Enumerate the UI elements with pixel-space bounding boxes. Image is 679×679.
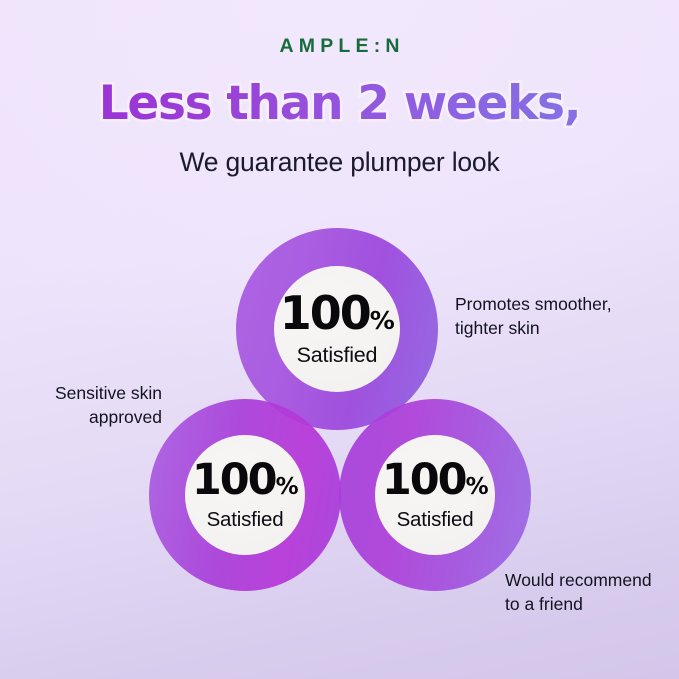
stat-circle-top-inner: 100% Satisfied (274, 266, 400, 392)
percent-symbol-bottom-right: % (466, 476, 489, 499)
stat-label-top: Satisfied (297, 343, 378, 368)
headline: Less than 2 weeks, Less than 2 weeks, (99, 76, 581, 132)
stat-circle-bottom-right: 100% Satisfied (339, 399, 531, 591)
stat-label-bottom-right: Satisfied (397, 508, 474, 532)
stat-number-bottom-left: 100 (192, 459, 276, 502)
stat-number-bottom-right: 100 (382, 459, 466, 502)
stat-label-bottom-left: Satisfied (207, 508, 284, 532)
annotation-would-recommend: Would recommend to a friend (505, 568, 677, 616)
annotation-promotes-smoother: Promotes smoother, tighter skin (455, 292, 670, 340)
stat-value-top: 100% (280, 290, 395, 336)
promo-poster: AMPLE:N Less than 2 weeks, Less than 2 w… (0, 0, 679, 679)
stat-circle-bottom-left-inner: 100% Satisfied (185, 435, 305, 555)
stat-number-top: 100 (280, 290, 370, 336)
stat-circle-bottom-right-inner: 100% Satisfied (375, 435, 495, 555)
stat-value-bottom-right: 100% (382, 459, 488, 502)
stat-circle-bottom-left: 100% Satisfied (149, 399, 341, 591)
annotation-sensitive-skin: Sensitive skin approved (12, 381, 162, 429)
stat-value-bottom-left: 100% (192, 459, 298, 502)
headline-text: Less than 2 weeks, (99, 76, 581, 131)
headline-container: Less than 2 weeks, Less than 2 weeks, (0, 76, 679, 132)
percent-symbol-top: % (370, 308, 395, 333)
percent-symbol-bottom-left: % (276, 476, 299, 499)
stat-circle-top: 100% Satisfied (236, 228, 438, 430)
